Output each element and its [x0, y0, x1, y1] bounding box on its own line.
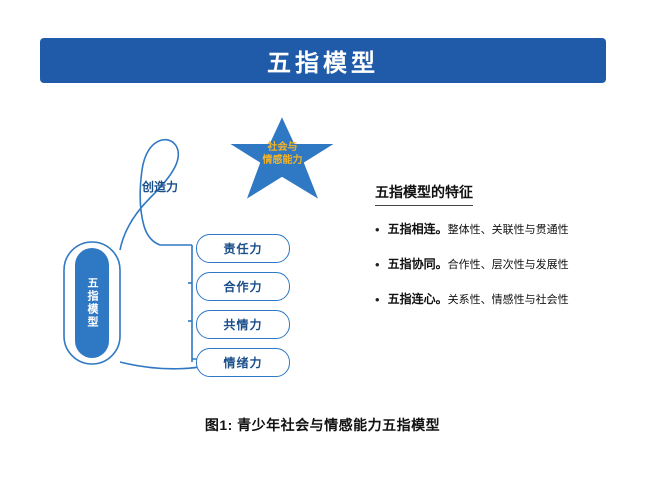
- palm-label: 五指模型: [75, 248, 109, 358]
- figure-caption: 图1: 青少年社会与情感能力五指模型: [0, 415, 645, 435]
- features-panel: 五指模型的特征 • 五指相连。整体性、关联性与贯通性 • 五指协同。合作性、层次…: [375, 182, 625, 327]
- feature-rest: 合作性、层次性与发展性: [448, 259, 569, 271]
- slide-canvas: 五指模型 社会与 情感能力 五指: [0, 0, 645, 481]
- star-badge: 社会与 情感能力: [225, 113, 340, 205]
- feature-item: • 五指协同。合作性、层次性与发展性: [375, 257, 625, 273]
- five-finger-model-diagram: 社会与 情感能力 五指模型 创造力 责任力 合作力 共情力 情绪力: [40, 100, 370, 400]
- star-label: 社会与 情感能力: [225, 141, 340, 167]
- features-heading: 五指模型的特征: [375, 182, 473, 206]
- feature-text: 五指相连。整体性、关联性与贯通性: [388, 222, 569, 238]
- finger-pill-empathy: 共情力: [196, 310, 290, 339]
- finger-pill-responsibility: 责任力: [196, 234, 290, 263]
- bullet-icon: •: [375, 292, 380, 307]
- feature-rest: 整体性、关联性与贯通性: [448, 224, 569, 236]
- feature-lead: 五指相连。: [388, 222, 448, 236]
- finger-pill-emotion: 情绪力: [196, 348, 290, 377]
- star-label-line2: 情感能力: [225, 154, 340, 167]
- page-title: 五指模型: [267, 43, 379, 78]
- feature-item: • 五指相连。整体性、关联性与贯通性: [375, 222, 625, 238]
- finger-pill-cooperation: 合作力: [196, 272, 290, 301]
- bullet-icon: •: [375, 222, 380, 237]
- title-banner: 五指模型: [40, 38, 606, 83]
- feature-rest: 关系性、情感性与社会性: [448, 294, 569, 306]
- bullet-icon: •: [375, 257, 380, 272]
- feature-lead: 五指协同。: [388, 257, 448, 271]
- feature-lead: 五指连心。: [388, 292, 448, 306]
- star-label-line1: 社会与: [225, 141, 340, 154]
- feature-text: 五指协同。合作性、层次性与发展性: [388, 257, 569, 273]
- thumb-label: 创造力: [142, 178, 178, 195]
- feature-item: • 五指连心。关系性、情感性与社会性: [375, 292, 625, 308]
- feature-text: 五指连心。关系性、情感性与社会性: [388, 292, 569, 308]
